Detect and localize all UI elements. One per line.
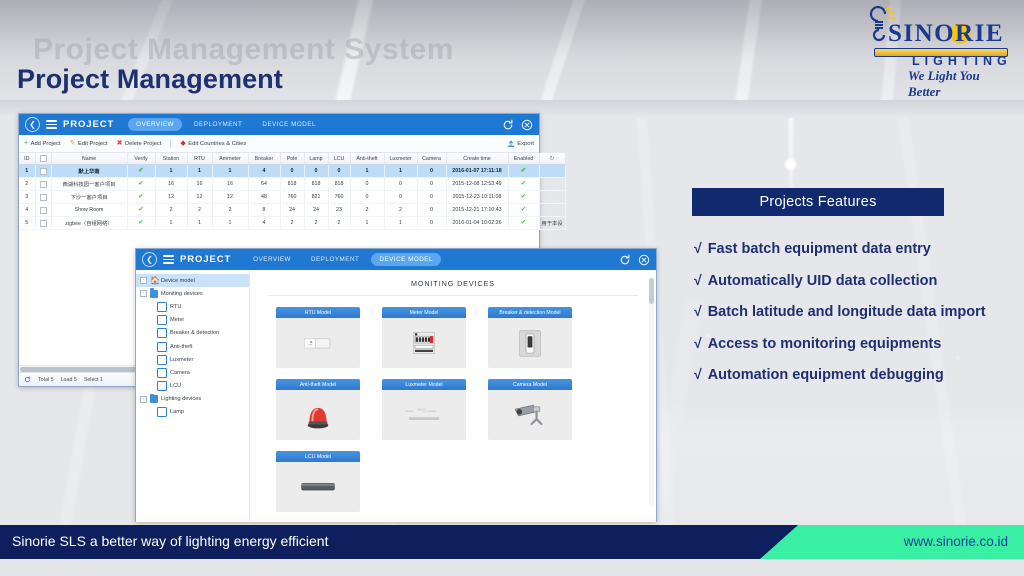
column-header-ammeter[interactable]: Ammeter <box>212 153 248 165</box>
cell-camera: 0 <box>417 217 446 230</box>
alarm-beacon-icon <box>276 390 360 440</box>
tree-node-breaker-detection[interactable]: Breaker & detection <box>136 327 249 340</box>
device-card-title: Luxmeter Model <box>382 379 466 390</box>
table-header-row: IDNameVerifyStationRTUAmmeterBreakerPole… <box>19 153 565 165</box>
device-card-meter-model[interactable]: Meter Model <box>382 307 466 368</box>
back-arrow-icon[interactable]: ❮ <box>25 117 40 132</box>
feature-label: Access to monitoring equipments <box>708 336 942 352</box>
device-icon <box>157 342 167 352</box>
column-header-verify[interactable]: Verify <box>127 153 155 165</box>
tree-node-label: LCU <box>170 383 181 389</box>
cell-breaker: 64 <box>248 178 280 191</box>
device-icon <box>157 328 167 338</box>
app-brand-label: PROJECT <box>63 119 114 130</box>
overview-toolbar[interactable]: + Add Project ✎ Edit Project ✖ Delete Pr… <box>19 135 539 153</box>
device-card-title: Breaker & detection Model <box>488 307 572 318</box>
feature-item-2: √Automatically UID data collection <box>694 272 1024 289</box>
cell-ammeter: 1 <box>212 165 248 178</box>
tree-node-label: Anti-theft <box>170 344 192 350</box>
device-model-window-controls[interactable] <box>619 254 650 266</box>
cell-verify: ✔ <box>127 191 155 204</box>
device-card-title: Camera Model <box>488 379 572 390</box>
cell-create_time: 2016-01-04 10:02:26 <box>446 217 508 230</box>
column-header-luxmeter[interactable]: Luxmeter <box>384 153 417 165</box>
device-card-title: Meter Model <box>382 307 466 318</box>
slide-canvas: Project Management System Project Manage… <box>0 0 1024 576</box>
cell-antitheft: 0 <box>350 191 384 204</box>
tab-overview[interactable]: OVERVIEW <box>245 253 299 266</box>
tree-node-label: Camera <box>170 370 190 376</box>
cell-create_time: 2015-12-23 10:11:08 <box>446 191 508 204</box>
tree-node-anti-theft[interactable]: Anti-theft <box>136 340 249 353</box>
device-model-tree[interactable]: -🏠Device model-Moniting devicesRTUMeterB… <box>136 270 250 522</box>
cctv-camera-icon <box>488 390 572 440</box>
device-card-breaker-detection-model[interactable]: Breaker & detection Model <box>488 307 572 368</box>
cell-id: 2 <box>19 178 35 191</box>
cell-ammeter: 16 <box>212 178 248 191</box>
slide-footer: Sinorie SLS a better way of lighting ene… <box>0 525 1024 559</box>
cell-lamp: 24 <box>304 204 328 217</box>
overview-tab-strip[interactable]: OVERVIEW DEPLOYMENT DEVICE MODEL <box>128 118 502 131</box>
cell-luxmeter: 1 <box>384 165 417 178</box>
cell-enabled: ✔ <box>508 191 539 204</box>
cell-lamp: 821 <box>304 191 328 204</box>
vertical-scrollbar[interactable] <box>649 278 654 506</box>
cell-camera: 0 <box>417 191 446 204</box>
column-header-lcu[interactable]: LCU <box>328 153 350 165</box>
cell-antitheft: 0 <box>350 178 384 191</box>
page-title: Project Management <box>17 64 283 95</box>
cell-breaker: 4 <box>248 165 280 178</box>
tree-node-moniting-devices[interactable]: -Moniting devices <box>136 287 249 300</box>
plus-icon: + <box>24 140 28 147</box>
cell-create_time: 2016-01-07 17:11:18 <box>446 165 508 178</box>
cell-station: 1 <box>155 217 187 230</box>
tree-node-label: Device model <box>161 278 195 284</box>
refresh-icon[interactable] <box>502 119 514 131</box>
cell-luxmeter: 0 <box>384 178 417 191</box>
tree-node-label: Luxmeter <box>170 357 193 363</box>
delete-project-button[interactable]: ✖ Delete Project <box>117 140 162 147</box>
device-card-title: Anti-theft Model <box>276 379 360 390</box>
add-project-label: Add Project <box>31 141 61 147</box>
close-icon[interactable] <box>638 254 650 266</box>
overview-titlebar: ❮ PROJECT OVERVIEW DEPLOYMENT DEVICE MOD… <box>19 114 539 135</box>
tree-node-meter[interactable]: Meter <box>136 314 249 327</box>
cell-pole: 0 <box>280 165 304 178</box>
cell-station: 2 <box>155 204 187 217</box>
device-icon <box>157 381 167 391</box>
column-header-enabled[interactable]: Enabled <box>508 153 539 165</box>
cell-verify: ✔ <box>127 178 155 191</box>
logo-wordmark: SINORIE <box>888 20 1004 48</box>
status-select: Select 1 <box>84 377 103 383</box>
cell-rtu: 1 <box>187 165 212 178</box>
tree-node-rtu[interactable]: RTU <box>136 300 249 313</box>
cell-breaker: 8 <box>248 204 280 217</box>
features-banner: Projects Features <box>692 188 944 216</box>
cell-note <box>539 165 565 178</box>
tree-node-label: RTU <box>170 304 181 310</box>
cell-ammeter: 1 <box>212 217 248 230</box>
cell-enabled: ✔ <box>508 165 539 178</box>
column-header-blank[interactable] <box>35 153 51 165</box>
features-list: √Fast batch equipment data entry√Automat… <box>694 240 1024 398</box>
feature-label: Automation equipment debugging <box>708 367 944 383</box>
cell-luxmeter: 0 <box>384 191 417 204</box>
cell-id: 1 <box>19 165 35 178</box>
device-model-tab-strip[interactable]: OVERVIEW DEPLOYMENT DEVICE MODEL <box>245 253 619 266</box>
column-header-rtu[interactable]: RTU <box>187 153 212 165</box>
device-icon <box>157 368 167 378</box>
column-header-anti-theft[interactable]: Anti-theft <box>350 153 384 165</box>
expander-toggle[interactable]: - <box>140 290 147 297</box>
logo-subtitle: LIGHTING <box>912 54 1012 68</box>
column-header-create-time[interactable]: Create time <box>446 153 508 165</box>
cell-breaker: 48 <box>248 191 280 204</box>
edit-countries-cities-button[interactable]: ◆ Edit Countries & Cities <box>180 140 246 147</box>
device-icon <box>157 407 167 417</box>
cell-lamp: 0 <box>304 165 328 178</box>
tree-node-lcu[interactable]: LCU <box>136 380 249 393</box>
feature-item-5: √Automation equipment debugging <box>694 366 1024 383</box>
row-checkbox[interactable] <box>35 217 51 230</box>
device-icon <box>157 355 167 365</box>
hamburger-icon[interactable] <box>163 255 174 264</box>
cell-id: 3 <box>19 191 35 204</box>
cell-id: 5 <box>19 217 35 230</box>
device-card-luxmeter-model[interactable]: Luxmeter Model <box>382 379 466 440</box>
refresh-icon[interactable] <box>619 254 631 266</box>
check-glyph-icon: √ <box>694 240 702 256</box>
delete-project-label: Delete Project <box>125 141 161 147</box>
check-glyph-icon: √ <box>694 335 702 351</box>
cell-lamp: 2 <box>304 217 328 230</box>
back-arrow-icon[interactable]: ❮ <box>142 252 157 267</box>
cell-rtu: 16 <box>187 178 212 191</box>
status-total: Total 5 <box>38 377 54 383</box>
status-load: Load 5 <box>61 377 77 383</box>
edit-project-label: Edit Project <box>78 141 108 147</box>
globe-icon: ◆ <box>180 140 185 147</box>
cell-station: 1 <box>155 165 187 178</box>
rtu-device-icon <box>276 318 360 368</box>
cell-lcu: 818 <box>328 178 350 191</box>
feature-item-4: √Access to monitoring equipments <box>694 335 1024 352</box>
cell-pole: 24 <box>280 204 304 217</box>
cell-station: 16 <box>155 178 187 191</box>
feature-item-1: √Fast batch equipment data entry <box>694 240 1024 257</box>
device-card-title: LCU Model <box>276 451 360 462</box>
projects-table[interactable]: IDNameVerifyStationRTUAmmeterBreakerPole… <box>19 153 566 230</box>
cell-pole: 760 <box>280 191 304 204</box>
cell-station: 12 <box>155 191 187 204</box>
cell-camera: 0 <box>417 165 446 178</box>
export-button[interactable]: Export <box>507 140 534 148</box>
row-checkbox[interactable] <box>35 178 51 191</box>
tab-device-model[interactable]: DEVICE MODEL <box>254 118 324 131</box>
export-icon <box>507 140 515 148</box>
tree-node-device-model[interactable]: -🏠Device model <box>136 274 249 287</box>
cell-antitheft: 1 <box>350 165 384 178</box>
toolbar-divider <box>170 139 171 148</box>
export-label: Export <box>517 141 534 147</box>
cell-name: 下沙一客户项目 <box>51 191 127 204</box>
logo-tagline: We Light You Better <box>908 68 1014 100</box>
company-logo: SINORIE LIGHTING We Light You Better <box>862 4 1014 70</box>
add-project-button[interactable]: + Add Project <box>24 140 61 147</box>
check-glyph-icon: √ <box>694 272 702 288</box>
cell-note: 用于本设 <box>539 217 565 230</box>
cell-enabled: ✔ <box>508 217 539 230</box>
tree-node-label: Moniting devices <box>161 291 203 297</box>
cell-enabled: ✔ <box>508 204 539 217</box>
overview-window-controls[interactable] <box>502 119 533 131</box>
device-card-title: RTU Model <box>276 307 360 318</box>
device-card-lcu-model[interactable]: LCU Model <box>276 451 360 512</box>
tab-deployment[interactable]: DEPLOYMENT <box>186 118 250 131</box>
column-header-breaker[interactable]: Breaker <box>248 153 280 165</box>
device-icon <box>157 302 167 312</box>
edit-project-button[interactable]: ✎ Edit Project <box>70 140 108 147</box>
tab-deployment[interactable]: DEPLOYMENT <box>303 253 367 266</box>
cell-camera: 0 <box>417 178 446 191</box>
cell-create_time: 2015-12-08 12:53:49 <box>446 178 508 191</box>
device-model-body: -🏠Device model-Moniting devicesRTUMeterB… <box>136 270 656 522</box>
cross-icon: ✖ <box>117 140 123 147</box>
table-row[interactable]: 1默上华南✔11140001102016-01-07 17:11:18✔ <box>19 165 565 178</box>
footer-url[interactable]: www.sinorie.co.id <box>904 534 1008 549</box>
edit-countries-cities-label: Edit Countries & Cities <box>188 141 246 147</box>
column-header-pole[interactable]: Pole <box>280 153 304 165</box>
home-icon: 🏠 <box>150 277 158 285</box>
cell-verify: ✔ <box>127 217 155 230</box>
tab-overview[interactable]: OVERVIEW <box>128 118 182 131</box>
table-row[interactable]: 4Show Room✔22282424232202015-12-21 17:10… <box>19 204 565 217</box>
row-checkbox[interactable] <box>35 165 51 178</box>
footer-bottom-strip <box>0 559 1024 576</box>
cell-rtu: 12 <box>187 191 212 204</box>
table-body: 1默上华南✔11140001102016-01-07 17:11:18✔2西湖科… <box>19 165 565 230</box>
cell-create_time: 2015-12-21 17:10:43 <box>446 204 508 217</box>
expander-toggle[interactable]: - <box>140 277 147 284</box>
cell-antitheft: 2 <box>350 204 384 217</box>
cell-ammeter: 2 <box>212 204 248 217</box>
device-card-rtu-model[interactable]: RTU Model <box>276 307 360 368</box>
device-model-panel: MONITING DEVICES RTU ModelMeter ModelBre… <box>250 270 656 522</box>
tree-node-label: Breaker & detection <box>170 330 219 336</box>
column-header-lamp[interactable]: Lamp <box>304 153 328 165</box>
column-header-blank[interactable]: ↻ <box>539 153 565 165</box>
cell-note <box>539 204 565 217</box>
cell-verify: ✔ <box>127 204 155 217</box>
close-icon[interactable] <box>521 119 533 131</box>
device-model-titlebar: ❮ PROJECT OVERVIEW DEPLOYMENT DEVICE MOD… <box>136 249 656 270</box>
device-card-anti-theft-model[interactable]: Anti-theft Model <box>276 379 360 440</box>
check-glyph-icon: √ <box>694 366 702 382</box>
tree-node-lighting-devices[interactable]: -Lighting devices <box>136 393 249 406</box>
expander-toggle[interactable]: - <box>140 396 147 403</box>
column-header-station[interactable]: Station <box>155 153 187 165</box>
cell-enabled: ✔ <box>508 178 539 191</box>
cell-rtu: 1 <box>187 217 212 230</box>
watermark-text: Project Management System <box>33 33 653 67</box>
app-brand-label: PROJECT <box>180 254 231 265</box>
check-glyph-icon: √ <box>694 303 702 319</box>
table-row[interactable]: 3下沙一客户项目✔121212487608217600002015-12-23 … <box>19 191 565 204</box>
tab-device-model[interactable]: DEVICE MODEL <box>371 253 441 266</box>
footer-tagline: Sinorie SLS a better way of lighting ene… <box>12 533 328 549</box>
cell-verify: ✔ <box>127 165 155 178</box>
cell-lcu: 760 <box>328 191 350 204</box>
cell-breaker: 4 <box>248 217 280 230</box>
tree-node-label: Meter <box>170 317 184 323</box>
cell-lamp: 818 <box>304 178 328 191</box>
luxmeter-device-icon <box>382 390 466 440</box>
cell-antitheft: 1 <box>350 217 384 230</box>
tree-node-label: Lighting devices <box>161 396 201 402</box>
cell-note <box>539 191 565 204</box>
cell-note <box>539 178 565 191</box>
device-card-grid[interactable]: RTU ModelMeter ModelBreaker & detection … <box>250 296 656 522</box>
cell-pole: 818 <box>280 178 304 191</box>
cell-ammeter: 12 <box>212 191 248 204</box>
cell-lcu: 23 <box>328 204 350 217</box>
cell-name: 默上华南 <box>51 165 127 178</box>
cell-luxmeter: 1 <box>384 217 417 230</box>
column-header-id[interactable]: ID <box>19 153 35 165</box>
table-row[interactable]: 2西湖科技园一客户项目✔161616648188188180002015-12-… <box>19 178 565 191</box>
row-checkbox[interactable] <box>35 204 51 217</box>
tree-node-label: Lamp <box>170 409 184 415</box>
tree-node-luxmeter[interactable]: Luxmeter <box>136 353 249 366</box>
tree-node-camera[interactable]: Camera <box>136 366 249 379</box>
select-all-checkbox[interactable] <box>40 155 47 162</box>
window-device-model[interactable]: ❮ PROJECT OVERVIEW DEPLOYMENT DEVICE MOD… <box>135 248 657 522</box>
cell-lcu: 0 <box>328 165 350 178</box>
feature-label: Automatically UID data collection <box>708 273 938 289</box>
hamburger-icon[interactable] <box>46 120 57 129</box>
cell-luxmeter: 2 <box>384 204 417 217</box>
device-icon <box>157 315 167 325</box>
cell-camera: 0 <box>417 204 446 217</box>
column-options-icon[interactable]: ↻ <box>549 156 554 162</box>
pencil-icon: ✎ <box>70 140 76 147</box>
folder-icon <box>150 290 158 298</box>
breaker-device-icon <box>488 318 572 368</box>
feature-label: Batch latitude and longitude data import <box>708 304 986 320</box>
table-row[interactable]: 5zigbee（自组网络）✔11142221102016-01-04 10:02… <box>19 217 565 230</box>
cell-lcu: 2 <box>328 217 350 230</box>
panel-title: MONITING DEVICES <box>250 279 656 288</box>
background-tower-light <box>784 158 797 171</box>
cell-pole: 2 <box>280 217 304 230</box>
meter-device-icon <box>382 318 466 368</box>
lcu-device-icon <box>276 462 360 512</box>
cell-name: 西湖科技园一客户项目 <box>51 178 127 191</box>
row-checkbox[interactable] <box>35 191 51 204</box>
folder-icon <box>150 395 158 403</box>
cell-name: Show Room <box>51 204 127 217</box>
tree-node-lamp[interactable]: Lamp <box>136 406 249 419</box>
feature-item-3: √Batch latitude and longitude data impor… <box>694 303 1024 320</box>
refresh-icon[interactable] <box>24 376 31 383</box>
device-card-camera-model[interactable]: Camera Model <box>488 379 572 440</box>
cell-name: zigbee（自组网络） <box>51 217 127 230</box>
column-header-camera[interactable]: Camera <box>417 153 446 165</box>
cell-rtu: 2 <box>187 204 212 217</box>
feature-label: Fast batch equipment data entry <box>708 241 931 257</box>
column-header-name[interactable]: Name <box>51 153 127 165</box>
cell-id: 4 <box>19 204 35 217</box>
